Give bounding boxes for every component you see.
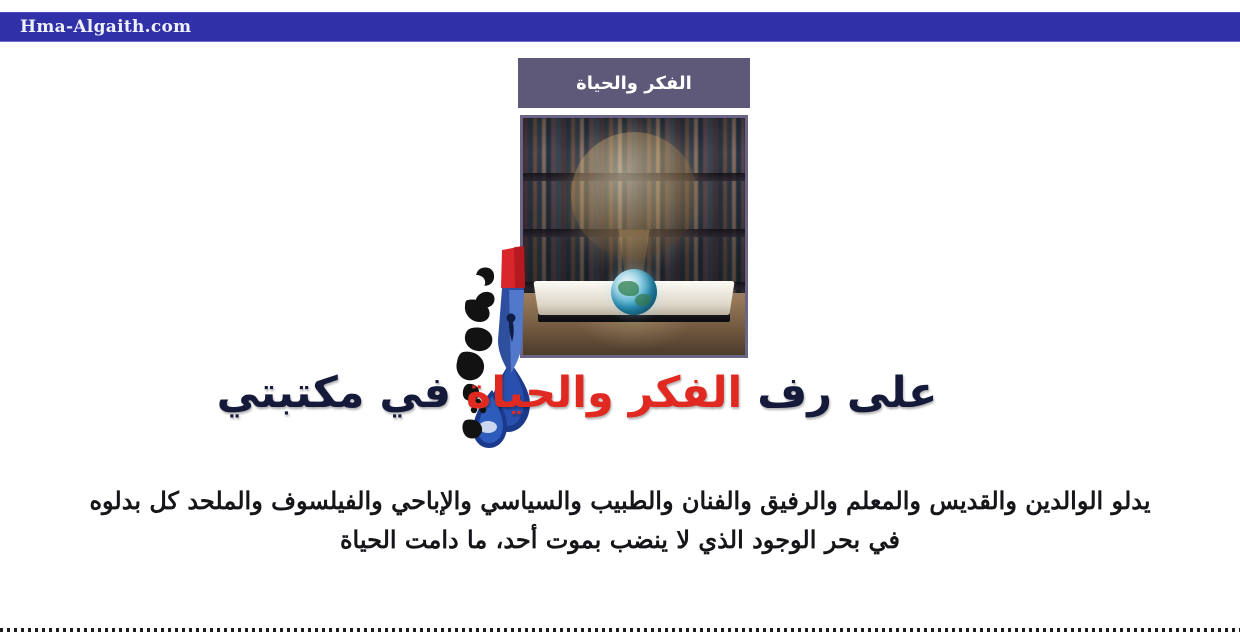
body-paragraph: يدلو الوالدين والقديس والمعلم والرفيق وا… <box>55 482 1185 560</box>
book-card: الفكر والحياة <box>518 58 750 108</box>
brand-bar: Hma-Algaith.com <box>0 12 1240 42</box>
dotted-divider <box>0 628 1240 632</box>
page-root: Hma-Algaith.com الفكر والحياة <box>0 0 1240 640</box>
pen-nib-vent-icon <box>507 314 516 323</box>
body-line-2: في بحر الوجود الذي لا ينضب بموت أحد، ما … <box>55 521 1185 560</box>
site-brand-text: Hma-Algaith.com <box>20 17 191 37</box>
headline-part-3: في مكتبتي <box>217 368 466 418</box>
book-title-text: الفكر والحياة <box>576 73 692 94</box>
pen-cap-shade-icon <box>514 246 525 288</box>
page-headline: على رف الفكر والحياة في مكتبتي <box>0 368 1240 419</box>
headline-part-1: على رف <box>742 368 937 418</box>
globe-icon <box>611 269 657 315</box>
book-cover-image <box>520 115 748 358</box>
headline-part-2: الفكر والحياة <box>466 368 742 418</box>
body-line-1: يدلو الوالدين والقديس والمعلم والرفيق وا… <box>55 482 1185 521</box>
hma-algaith-logo <box>452 244 548 450</box>
book-title-plate: الفكر والحياة <box>518 58 750 108</box>
